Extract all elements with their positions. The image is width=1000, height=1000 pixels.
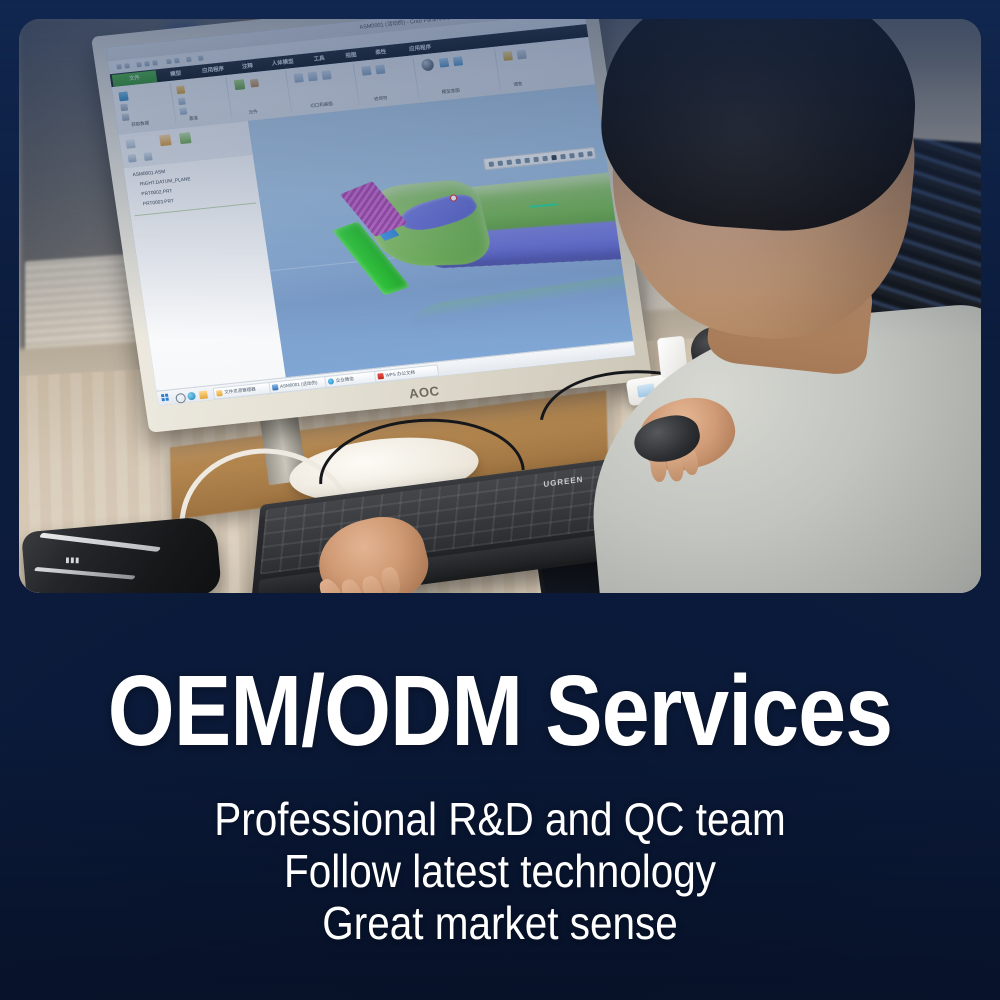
- ribbon-group-model-intent[interactable]: 模型意图: [414, 49, 501, 99]
- redo-icon[interactable]: [152, 60, 158, 65]
- ribbon-group-investigate[interactable]: 调查: [496, 42, 564, 90]
- windows-start-icon[interactable]: [161, 393, 170, 402]
- cad-3d-model-hair-clipper[interactable]: [335, 126, 635, 374]
- mass-properties-icon[interactable]: [517, 50, 527, 60]
- sweep-icon[interactable]: [321, 70, 331, 80]
- subtitle-line-2: Follow latest technology: [60, 846, 940, 898]
- tab-flexible[interactable]: 柔性: [375, 47, 387, 56]
- parameters-icon[interactable]: [453, 56, 463, 66]
- tree-item-datum[interactable]: RIGHT.DATUM_PLANE: [140, 177, 191, 187]
- chamfer-icon[interactable]: [375, 64, 385, 74]
- tab-annotate[interactable]: 注释: [241, 61, 253, 70]
- measure-icon[interactable]: [503, 51, 513, 61]
- display-style-icon[interactable]: [159, 134, 172, 146]
- view-manager-icon[interactable]: [179, 132, 192, 144]
- datum-plane-icon[interactable]: [176, 85, 185, 94]
- office-photo-scene: ASM0001 (活动的) - Creo Parametric: [19, 19, 981, 593]
- aoc-monitor: ASM0001 (活动的) - Creo Parametric: [91, 19, 652, 433]
- tool-icon-b[interactable]: [122, 113, 130, 121]
- qat-icon-1[interactable]: [116, 64, 122, 69]
- regenerate-icon[interactable]: [166, 59, 172, 64]
- create-component-icon[interactable]: [250, 79, 259, 88]
- ribbon-group-get-data[interactable]: 获取数据: [114, 83, 177, 131]
- tab-manikin[interactable]: 人体模型: [271, 57, 294, 67]
- tree-filter-icon[interactable]: [128, 154, 137, 163]
- ribbon-label-get-data: 获取数据: [131, 120, 150, 128]
- explorer-icon: [216, 390, 223, 397]
- banner-page: ASM0001 (活动的) - Creo Parametric: [0, 0, 1000, 1000]
- tree-item-assembly[interactable]: ASM0001.ASM: [132, 170, 165, 178]
- tab-model[interactable]: 模型: [170, 69, 182, 78]
- edge-icon[interactable]: [187, 392, 196, 401]
- banner-text-block: OEM/ODM Services Professional R&D and QC…: [0, 600, 1000, 950]
- wps-icon: [377, 373, 384, 380]
- get-data-icon[interactable]: [118, 91, 128, 101]
- page-title: OEM/ODM Services: [70, 600, 930, 760]
- qat-icon-5[interactable]: [198, 55, 204, 60]
- tree-settings-icon[interactable]: [144, 152, 153, 161]
- datum-point-icon[interactable]: [179, 107, 187, 115]
- qat-icon-3[interactable]: [174, 58, 180, 63]
- ribbon-label-cuts: 切口和曲面: [310, 101, 333, 109]
- ribbon-group-cuts-surfaces[interactable]: 切口和曲面: [287, 64, 360, 113]
- revolve-icon[interactable]: [308, 72, 318, 82]
- qat-icon-4[interactable]: [186, 57, 192, 62]
- ribbon-group-datum[interactable]: 基准: [172, 77, 233, 124]
- file-explorer-icon[interactable]: [199, 391, 208, 400]
- tab-applications[interactable]: 应用程序: [202, 64, 225, 74]
- search-icon[interactable]: [175, 393, 186, 404]
- tab-view[interactable]: 视图: [345, 50, 357, 59]
- tree-item-part-2[interactable]: PRT0003.PRT: [143, 199, 175, 207]
- monitor-brand-label: AOC: [408, 383, 440, 401]
- ribbon-group-modifiers[interactable]: 修饰符: [355, 57, 420, 105]
- ribbon-label-model-intent: 模型意图: [441, 88, 460, 96]
- undo-icon[interactable]: [144, 61, 150, 66]
- ribbon-label-component: 元件: [248, 109, 258, 116]
- save-icon[interactable]: [136, 62, 142, 67]
- device-stripe-1: [39, 533, 162, 552]
- device-stripe-2: [34, 567, 136, 579]
- tree-item-part-1[interactable]: PRT0002.PRT: [141, 189, 173, 197]
- extrude-icon[interactable]: [294, 73, 304, 83]
- datum-axis-icon[interactable]: [178, 97, 186, 105]
- round-icon[interactable]: [361, 66, 371, 76]
- device-logo: ▮▮▮: [66, 556, 81, 564]
- tool-icon-a[interactable]: [120, 104, 128, 112]
- subtitle-line-3: Great market sense: [60, 898, 940, 950]
- qat-icon-2[interactable]: [124, 63, 130, 68]
- tab-tools[interactable]: 工具: [313, 54, 325, 63]
- ribbon-label-investigate: 调查: [513, 81, 523, 88]
- tab-apps[interactable]: 应用程序: [409, 43, 432, 53]
- wework-icon: [327, 378, 334, 385]
- creo-icon: [272, 384, 279, 391]
- assemble-icon[interactable]: [234, 79, 245, 90]
- material-icon[interactable]: [439, 58, 449, 68]
- monitor-screen: ASM0001 (活动的) - Creo Parametric: [106, 19, 636, 406]
- filter-icon[interactable]: [125, 139, 135, 149]
- model-floor-reflection: [404, 270, 636, 337]
- appearance-icon[interactable]: [421, 58, 435, 71]
- finger-d: [380, 566, 403, 593]
- ribbon-label-modifiers: 修饰符: [374, 95, 388, 102]
- cad-viewport[interactable]: [248, 84, 633, 378]
- subtitle-line-1: Professional R&D and QC team: [60, 794, 940, 846]
- hero-photo: ASM0001 (活动的) - Creo Parametric: [19, 19, 981, 593]
- banner-subtitle: Professional R&D and QC team Follow late…: [0, 760, 1000, 950]
- ribbon-group-component[interactable]: 元件: [227, 71, 292, 119]
- ribbon-label-datum: 基准: [189, 115, 199, 122]
